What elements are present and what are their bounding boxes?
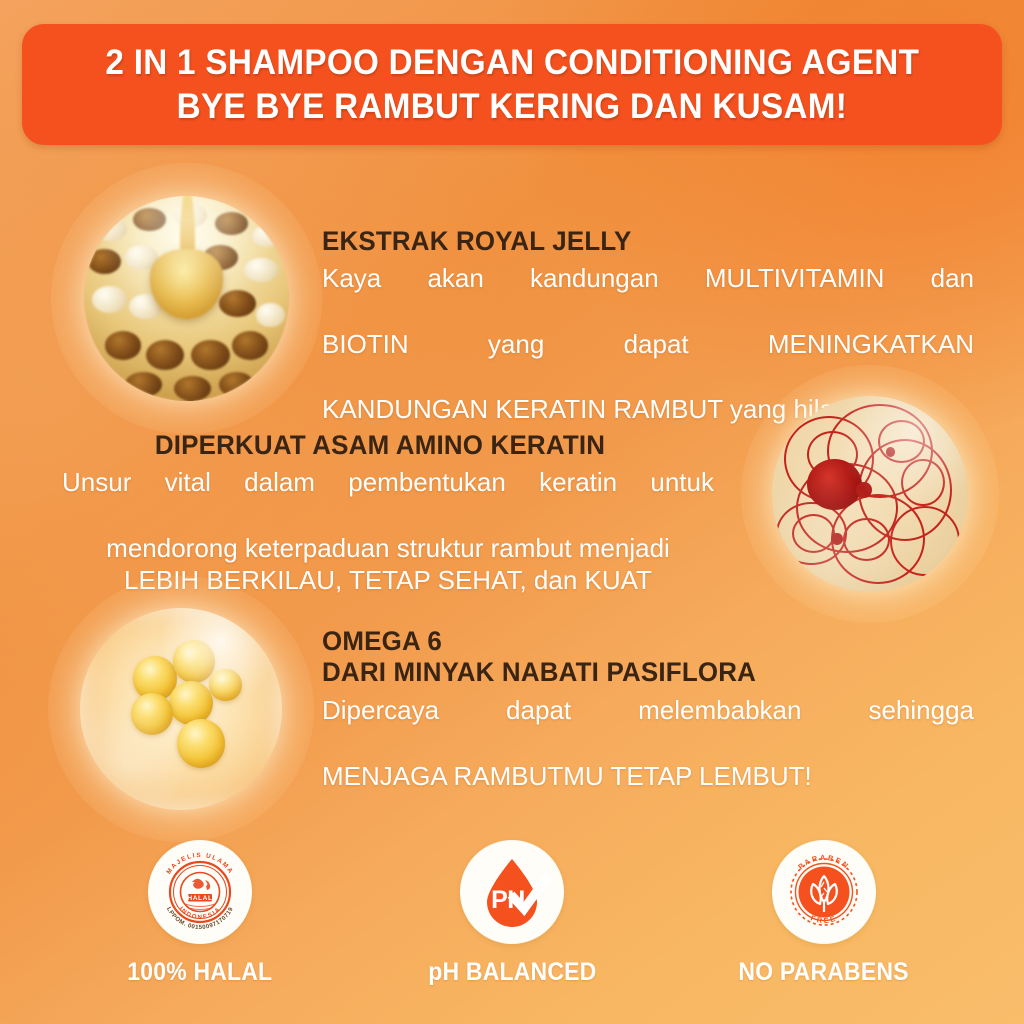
- ph-badge-circle: PH: [460, 840, 564, 944]
- headline-banner: 2 IN 1 SHAMPOO DENGAN CONDITIONING AGENT…: [22, 24, 1002, 145]
- keratin-image: [772, 396, 968, 592]
- badge-no-parabens: PARABEN FREE NO PARABENS: [738, 840, 910, 987]
- feature-title-omega-6-line-1: OMEGA 6: [322, 626, 756, 657]
- badge-label-no-parabens: NO PARABENS: [739, 958, 909, 987]
- product-benefits-poster: 2 IN 1 SHAMPOO DENGAN CONDITIONING AGENT…: [0, 0, 1024, 1024]
- feature-title-royal-jelly: EKSTRAK ROYAL JELLY: [322, 226, 631, 257]
- ph-droplet-check-icon: PH: [470, 850, 554, 934]
- svg-text:HALAL: HALAL: [187, 895, 212, 902]
- feature-title-omega-6-line-2: DARI MINYAK NABATI PASIFLORA: [322, 657, 756, 688]
- feature-title-keratin: DIPERKUAT ASAM AMINO KERATIN: [15, 430, 745, 461]
- royal-jelly-image: [84, 196, 289, 401]
- paraben-free-leaf-icon: PARABEN FREE: [778, 846, 870, 938]
- mui-halal-certification-icon: MAJELIS ULAMA INDONESIA LPPOM. 001500971…: [152, 844, 248, 940]
- badge-label-halal: 100% HALAL: [128, 958, 273, 987]
- feature-body-line: MENJAGA RAMBUTMU TETAP LEMBUT!: [322, 760, 974, 793]
- feature-body-line: Unsur vital dalam pembentukan keratin un…: [62, 466, 714, 532]
- feature-body-line: Kaya akan kandungan MULTIVITAMIN dan: [322, 262, 974, 328]
- badge-halal: MAJELIS ULAMA INDONESIA LPPOM. 001500971…: [114, 840, 286, 987]
- feature-body-omega-6: Dipercaya dapat melembabkan sehingga MEN…: [322, 694, 974, 792]
- omega-6-image: [80, 608, 282, 810]
- halal-badge-circle: MAJELIS ULAMA INDONESIA LPPOM. 001500971…: [148, 840, 252, 944]
- headline-line-2: BYE BYE RAMBUT KERING DAN KUSAM!: [177, 85, 847, 128]
- feature-body-line: Dipercaya dapat melembabkan sehingga: [322, 694, 974, 760]
- feature-body-line: mendorong keterpaduan struktur rambut me…: [62, 532, 714, 565]
- certification-badges: MAJELIS ULAMA INDONESIA LPPOM. 001500971…: [0, 840, 1024, 987]
- paraben-badge-circle: PARABEN FREE: [772, 840, 876, 944]
- badge-label-ph-balanced: pH BALANCED: [428, 958, 596, 987]
- badge-ph-balanced: PH pH BALANCED: [426, 840, 598, 987]
- feature-title-omega-6: OMEGA 6 DARI MINYAK NABATI PASIFLORA: [322, 626, 756, 689]
- headline-line-1: 2 IN 1 SHAMPOO DENGAN CONDITIONING AGENT: [105, 41, 919, 84]
